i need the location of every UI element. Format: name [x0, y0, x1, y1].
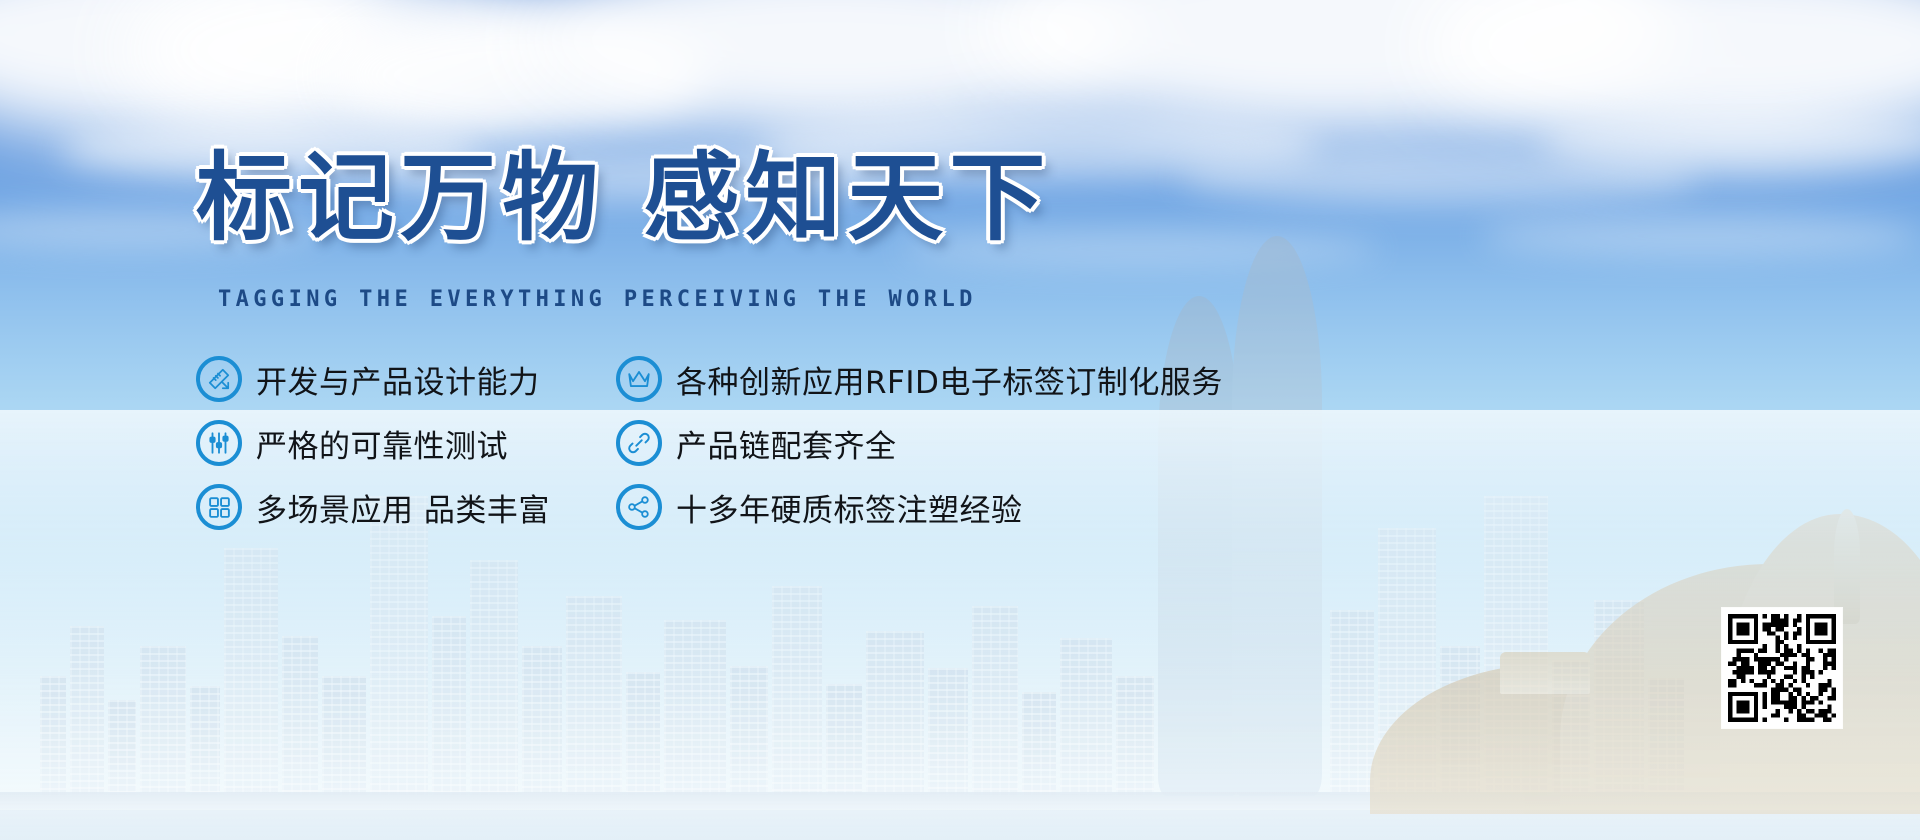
feature-label: 各种创新应用RFID电子标签订制化服务	[676, 357, 1223, 402]
qr-code[interactable]	[1722, 608, 1842, 728]
feature-label: 开发与产品设计能力	[256, 357, 540, 402]
page-title: 标记万物 感知天下	[196, 150, 1051, 246]
feature-item-molding-experience: 十多年硬质标签注塑经验	[616, 484, 1023, 530]
feature-label: 十多年硬质标签注塑经验	[676, 485, 1023, 530]
tagline: TAGGING THE EVERYTHING PERCEIVING THE WO…	[218, 287, 977, 312]
share-nodes-icon	[616, 484, 662, 530]
grid-squares-icon	[196, 484, 242, 530]
feature-item-multi-scenario: 多场景应用 品类丰富	[196, 484, 550, 530]
feature-item-reliability-testing: 严格的可靠性测试	[196, 420, 508, 466]
feature-item-development-design: 开发与产品设计能力	[196, 356, 540, 402]
feature-label: 严格的可靠性测试	[256, 421, 508, 466]
banner-content: 标记万物 感知天下 TAGGING THE EVERYTHING PERCEIV…	[0, 0, 1920, 840]
promo-banner: 标记万物 感知天下 TAGGING THE EVERYTHING PERCEIV…	[0, 0, 1920, 840]
crown-icon	[616, 356, 662, 402]
feature-item-product-chain: 产品链配套齐全	[616, 420, 897, 466]
chain-link-icon	[616, 420, 662, 466]
feature-label: 产品链配套齐全	[676, 421, 897, 466]
feature-item-rfid-customization: 各种创新应用RFID电子标签订制化服务	[616, 356, 1223, 402]
sliders-icon	[196, 420, 242, 466]
feature-label: 多场景应用 品类丰富	[256, 485, 550, 530]
ruler-pencil-icon	[196, 356, 242, 402]
